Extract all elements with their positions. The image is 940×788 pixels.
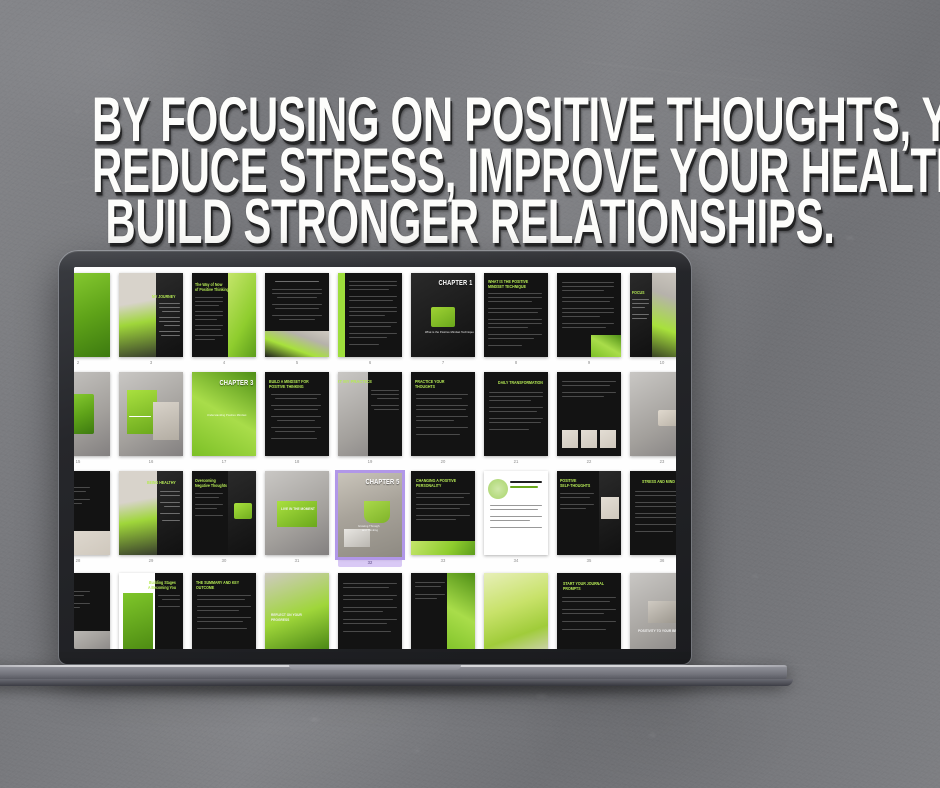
page-number: 36 bbox=[660, 558, 665, 564]
page-number: 10 bbox=[660, 360, 665, 366]
page-preview: MY LIFE THE GOAL bbox=[74, 273, 110, 357]
page-thumbnail[interactable]: WHAT IS THE POSITIVE MINDSET TECHNIQUE bbox=[484, 273, 548, 366]
laptop-base bbox=[0, 665, 787, 682]
laptop-lid: MY LIFE THE GOAL 2 MY JOURNEY bbox=[58, 250, 692, 665]
page-number: 28 bbox=[76, 558, 81, 564]
page-preview bbox=[557, 273, 621, 357]
thumbnail-row: MY LIFE THE GOAL 2 MY JOURNEY bbox=[74, 273, 648, 366]
page-preview: WHY bbox=[74, 573, 110, 649]
page-preview: FOCUS bbox=[630, 273, 676, 357]
page-preview: THE SUMMARY AND KEY OUTCOME bbox=[192, 573, 256, 649]
page-thumbnail[interactable]: BUILD A MINDSET FOR POSITIVE THINKING bbox=[265, 372, 329, 465]
page-thumbnail[interactable]: Building Stages A Becoming You 42 bbox=[119, 573, 183, 649]
page-number: 18 bbox=[295, 459, 300, 465]
page-preview: CHAPTER 5 Growing Through and Thinking bbox=[338, 473, 402, 557]
page-thumbnail[interactable]: 5 bbox=[265, 273, 329, 366]
page-preview bbox=[630, 372, 676, 456]
page-thumbnail[interactable]: THE SUMMARY AND KEY OUTCOME 43 bbox=[192, 573, 256, 649]
page-thumbnail[interactable]: WHY 41 bbox=[74, 573, 110, 649]
page-preview: START MY PRACTICE bbox=[338, 372, 402, 456]
page-preview: OVERCOME bbox=[74, 471, 110, 555]
page-preview bbox=[338, 273, 402, 357]
page-thumbnail[interactable]: 45 bbox=[338, 573, 402, 649]
pdf-thumbnail-grid[interactable]: MY LIFE THE GOAL 2 MY JOURNEY bbox=[74, 267, 676, 649]
page-thumbnail[interactable]: START MY PRACTICE 19 bbox=[338, 372, 402, 465]
page-number: 35 bbox=[587, 558, 592, 564]
page-number: 7 bbox=[442, 360, 444, 366]
page-number: 29 bbox=[149, 558, 154, 564]
page-number: 5 bbox=[296, 360, 298, 366]
page-preview: Building Stages A Becoming You bbox=[119, 573, 183, 649]
page-preview: POSITIVE SELF-THOUGHTS bbox=[557, 471, 621, 555]
page-preview: MY JOURNEY bbox=[119, 273, 183, 357]
page-preview: CHAPTER 3 Understanding Positive Mindset bbox=[192, 372, 256, 456]
page-preview: STRESS AND MIND bbox=[630, 471, 676, 555]
laptop-screen: MY LIFE THE GOAL 2 MY JOURNEY bbox=[74, 267, 676, 649]
laptop-mockup: MY LIFE THE GOAL 2 MY JOURNEY bbox=[58, 250, 882, 682]
page-preview bbox=[119, 372, 183, 456]
page-preview: LIVE IN THE MOMENT bbox=[265, 471, 329, 555]
page-number: 9 bbox=[588, 360, 590, 366]
page-preview: Overcoming Negative Thoughts bbox=[192, 471, 256, 555]
page-thumbnail[interactable]: STRESS AND MIND 36 bbox=[630, 471, 676, 564]
page-number: 31 bbox=[295, 558, 300, 564]
page-thumbnail[interactable]: BEING HEALTHY 29 bbox=[119, 471, 183, 564]
page-thumbnail[interactable]: CHANGING A POSITIVE PERSONALITY 33 bbox=[411, 471, 475, 564]
page-preview: BEING HEALTHY bbox=[119, 471, 183, 555]
page-number: 22 bbox=[587, 459, 592, 465]
page-thumbnail[interactable]: LIVE IN THE MOMENT 31 bbox=[265, 471, 329, 564]
page-number: 8 bbox=[515, 360, 517, 366]
thumbnail-row: WHY 41 bbox=[74, 573, 648, 649]
page-preview: CHANGING A POSITIVE PERSONALITY bbox=[411, 471, 475, 555]
laptop-shadow bbox=[0, 680, 815, 698]
page-thumbnail-selected[interactable]: CHAPTER 5 Growing Through and Thinking 3… bbox=[338, 471, 402, 567]
page-thumbnail[interactable]: MY JOURNEY 3 bbox=[119, 273, 183, 366]
page-thumbnail[interactable]: 34 bbox=[484, 471, 548, 564]
page-thumbnail[interactable]: 47 bbox=[484, 573, 548, 649]
page-number: 23 bbox=[660, 459, 665, 465]
laptop-base-notch bbox=[289, 665, 461, 670]
page-thumbnail[interactable]: REFLECT ON YOUR PROGRESS 44 bbox=[265, 573, 329, 649]
page-thumbnail[interactable]: 46 bbox=[411, 573, 475, 649]
poster-canvas: BY FOCUSING ON POSITIVE THOUGHTS, YOU CA… bbox=[0, 0, 940, 788]
page-thumbnail[interactable]: MY LIFE THE GOAL 2 bbox=[74, 273, 110, 366]
page-number: 33 bbox=[441, 558, 446, 564]
page-number: 20 bbox=[441, 459, 446, 465]
page-thumbnail[interactable]: The Way of Now of Positive Thinking bbox=[192, 273, 256, 366]
page-number: 3 bbox=[150, 360, 152, 366]
page-number: 17 bbox=[222, 459, 227, 465]
thumbnail-row: 15 16 CHAPTER 3 bbox=[74, 372, 648, 465]
page-thumbnail[interactable]: 9 bbox=[557, 273, 621, 366]
page-thumbnail[interactable]: 6 bbox=[338, 273, 402, 366]
page-preview: The Way of Now of Positive Thinking bbox=[192, 273, 256, 357]
page-thumbnail[interactable]: 16 bbox=[119, 372, 183, 465]
page-preview bbox=[484, 471, 548, 555]
page-preview: PRACTICE YOUR THOUGHTS bbox=[411, 372, 475, 456]
page-preview: DAILY TRANSFORMATION bbox=[484, 372, 548, 456]
page-thumbnail[interactable]: 23 bbox=[630, 372, 676, 465]
page-number: 4 bbox=[223, 360, 225, 366]
page-thumbnail[interactable]: FOCUS 10 bbox=[630, 273, 676, 366]
page-preview: REFLECT ON YOUR PROGRESS bbox=[265, 573, 329, 649]
page-preview bbox=[74, 372, 110, 456]
page-preview: WHAT IS THE POSITIVE MINDSET TECHNIQUE bbox=[484, 273, 548, 357]
page-number: 21 bbox=[514, 459, 519, 465]
page-preview: START YOUR JOURNAL PROMPTS bbox=[557, 573, 621, 649]
page-thumbnail[interactable]: CHAPTER 1 What is the Positive Mindset T… bbox=[411, 273, 475, 366]
page-preview bbox=[338, 573, 402, 649]
page-number: 16 bbox=[149, 459, 154, 465]
page-preview bbox=[484, 573, 548, 649]
page-preview bbox=[557, 372, 621, 456]
page-preview: POSITIVITY TO YOUR BEING bbox=[630, 573, 676, 649]
page-number: 30 bbox=[222, 558, 227, 564]
page-preview bbox=[265, 273, 329, 357]
page-thumbnail[interactable]: 15 bbox=[74, 372, 110, 465]
page-preview: BUILD A MINDSET FOR POSITIVE THINKING bbox=[265, 372, 329, 456]
page-preview bbox=[411, 573, 475, 649]
page-number: 32 bbox=[368, 560, 373, 566]
page-number: 2 bbox=[77, 360, 79, 366]
page-number: 34 bbox=[514, 558, 519, 564]
page-number: 15 bbox=[76, 459, 81, 465]
page-thumbnail[interactable]: POSITIVE SELF-THOUGHTS 35 bbox=[557, 471, 621, 564]
thumbnail-row: OVERCOME 28 bbox=[74, 471, 648, 567]
page-thumbnail[interactable]: POSITIVITY TO YOUR BEING 49 bbox=[630, 573, 676, 649]
page-thumbnail[interactable]: Overcoming Negative Thoughts 30 bbox=[192, 471, 256, 564]
page-thumbnail[interactable]: 22 bbox=[557, 372, 621, 465]
page-thumbnail[interactable]: PRACTICE YOUR THOUGHTS bbox=[411, 372, 475, 465]
page-number: 19 bbox=[368, 459, 373, 465]
page-thumbnail[interactable]: START YOUR JOURNAL PROMPTS 48 bbox=[557, 573, 621, 649]
page-thumbnail[interactable]: OVERCOME 28 bbox=[74, 471, 110, 564]
page-thumbnail[interactable]: DAILY TRANSFORMATION 21 bbox=[484, 372, 548, 465]
page-preview: CHAPTER 1 What is the Positive Mindset T… bbox=[411, 273, 475, 357]
page-number: 6 bbox=[369, 360, 371, 366]
page-thumbnail[interactable]: CHAPTER 3 Understanding Positive Mindset… bbox=[192, 372, 256, 465]
